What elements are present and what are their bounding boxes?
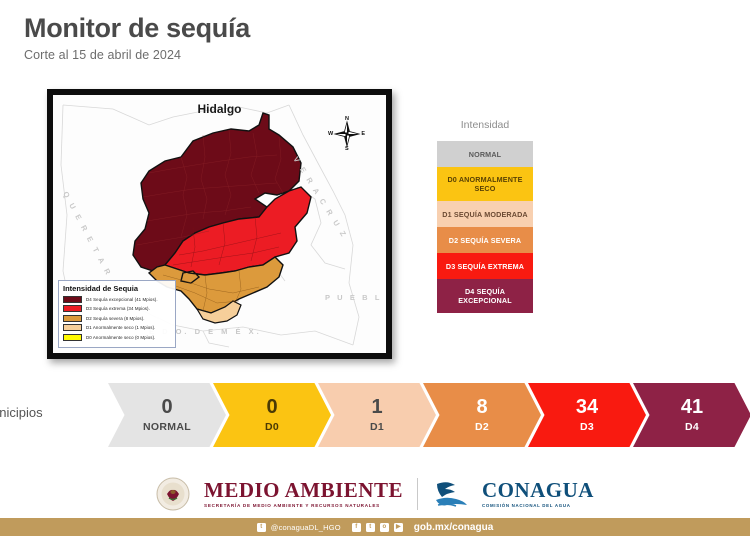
chevron-value: 1 bbox=[371, 397, 382, 417]
chevron-category: D3 bbox=[580, 421, 594, 433]
header: Monitor de sequía Corte al 15 de abril d… bbox=[24, 14, 250, 62]
map-legend-label: D2 Sequía severa (8 Mpios). bbox=[86, 316, 145, 321]
chevron-category: D1 bbox=[370, 421, 384, 433]
map-legend: Intensidad de Sequia D4 Sequía excepcion… bbox=[58, 280, 176, 349]
logo-divider bbox=[417, 478, 418, 510]
social-handle: @conaguaDL_HGO bbox=[271, 523, 341, 532]
map-legend-title: Intensidad de Sequia bbox=[63, 284, 171, 293]
conagua-subtitle: COMISIÓN NACIONAL DEL AGUA bbox=[482, 504, 594, 508]
map-canvas: Hidalgo Q U E R E T A R O V E R A C R U … bbox=[53, 95, 386, 353]
intensity-row-d0: D0 ANORMALMENTE SECO bbox=[437, 167, 533, 201]
municipios-axis-label: unicipios bbox=[0, 405, 43, 420]
compass-west-label: W bbox=[328, 131, 333, 137]
chevron-category: D0 bbox=[265, 421, 279, 433]
map-legend-swatch bbox=[63, 296, 82, 303]
chevron-normal: 0NORMAL bbox=[108, 383, 226, 447]
facebook-icon[interactable]: f bbox=[352, 523, 361, 532]
compass-rose-icon: N S E W bbox=[330, 117, 364, 151]
intensity-row-d3: D3 SEQUÍA EXTREMA bbox=[437, 253, 533, 279]
intensity-legend: Intensidad NORMALD0 ANORMALMENTE SECOD1 … bbox=[429, 119, 541, 313]
compass-east-label: E bbox=[361, 131, 365, 137]
conagua-eagle-water-icon bbox=[432, 478, 468, 510]
intensity-legend-title: Intensidad bbox=[429, 119, 541, 131]
map-legend-row: D3 Sequía extrema (34 Mpios). bbox=[63, 305, 171, 312]
page-title: Monitor de sequía bbox=[24, 14, 250, 42]
chevron-value: 0 bbox=[266, 397, 277, 417]
map-legend-label: D0 Anormalmente seco (0 Mpios). bbox=[86, 335, 155, 340]
page-subtitle: Corte al 15 de abril de 2024 bbox=[24, 48, 250, 62]
map-legend-rows: D4 Sequía excepcional (41 Mpios).D3 Sequ… bbox=[63, 296, 171, 341]
semarnat-subtitle: SECRETARÍA DE MEDIO AMBIENTE Y RECURSOS … bbox=[204, 504, 403, 509]
map-legend-swatch bbox=[63, 315, 82, 322]
map-legend-label: D1 Anormalmente seco (1 Mpios). bbox=[86, 325, 155, 330]
intensity-legend-list: NORMALD0 ANORMALMENTE SECOD1 SEQUÍA MODE… bbox=[437, 141, 533, 313]
map-legend-row: D1 Anormalmente seco (1 Mpios). bbox=[63, 324, 171, 331]
intensity-row-d1: D1 SEQUÍA MODERADA bbox=[437, 201, 533, 227]
footer-logos: MEDIO AMBIENTE SECRETARÍA DE MEDIO AMBIE… bbox=[0, 470, 750, 518]
mexico-seal-icon bbox=[156, 477, 190, 511]
footer-url: gob.mx/conagua bbox=[414, 522, 493, 533]
chevron-value: 0 bbox=[161, 397, 172, 417]
intensity-row-normal: NORMAL bbox=[437, 141, 533, 167]
map-legend-swatch bbox=[63, 305, 82, 312]
semarnat-wordmark: MEDIO AMBIENTE SECRETARÍA DE MEDIO AMBIE… bbox=[204, 480, 403, 509]
chevron-category: NORMAL bbox=[143, 421, 191, 433]
youtube-icon[interactable]: ▶ bbox=[394, 523, 403, 532]
twitter-icon[interactable]: t bbox=[366, 523, 375, 532]
chevron-value: 41 bbox=[681, 397, 703, 417]
chevron-value: 34 bbox=[576, 397, 598, 417]
chevron-d1: 1D1 bbox=[318, 383, 436, 447]
map-legend-row: D2 Sequía severa (8 Mpios). bbox=[63, 315, 171, 322]
conagua-wordmark: CONAGUA COMISIÓN NACIONAL DEL AGUA bbox=[482, 480, 594, 508]
intensity-row-d2: D2 SEQUÍA SEVERA bbox=[437, 227, 533, 253]
twitter-icon[interactable]: t bbox=[257, 523, 266, 532]
map-legend-label: D4 Sequía excepcional (41 Mpios). bbox=[86, 297, 158, 302]
map-legend-swatch bbox=[63, 334, 82, 341]
chevron-d2: 8D2 bbox=[423, 383, 541, 447]
chevron-d3: 34D3 bbox=[528, 383, 646, 447]
compass-north-label: N bbox=[345, 116, 349, 122]
chevron-value: 8 bbox=[476, 397, 487, 417]
map-panel: Hidalgo Q U E R E T A R O V E R A C R U … bbox=[47, 89, 392, 359]
compass-south-label: S bbox=[345, 146, 349, 152]
semarnat-name: MEDIO AMBIENTE bbox=[204, 480, 403, 501]
map-legend-row: D4 Sequía excepcional (41 Mpios). bbox=[63, 296, 171, 303]
map-legend-label: D3 Sequía extrema (34 Mpios). bbox=[86, 306, 150, 311]
municipality-count-bar: unicipios 0NORMAL0D01D18D234D341D4 bbox=[0, 383, 750, 447]
intensity-row-d4: D4 SEQUÍA EXCEPCIONAL bbox=[437, 279, 533, 313]
chevron-category: D2 bbox=[475, 421, 489, 433]
map-legend-swatch bbox=[63, 324, 82, 331]
chevron-d0: 0D0 bbox=[213, 383, 331, 447]
conagua-name: CONAGUA bbox=[482, 480, 594, 501]
footer-social-band: t @conaguaDL_HGO f t o ▶ gob.mx/conagua bbox=[0, 518, 750, 536]
chevron-category: D4 bbox=[685, 421, 699, 433]
footer: MEDIO AMBIENTE SECRETARÍA DE MEDIO AMBIE… bbox=[0, 470, 750, 536]
instagram-icon[interactable]: o bbox=[380, 523, 389, 532]
chevron-d4: 41D4 bbox=[633, 383, 750, 447]
map-legend-row: D0 Anormalmente seco (0 Mpios). bbox=[63, 334, 171, 341]
